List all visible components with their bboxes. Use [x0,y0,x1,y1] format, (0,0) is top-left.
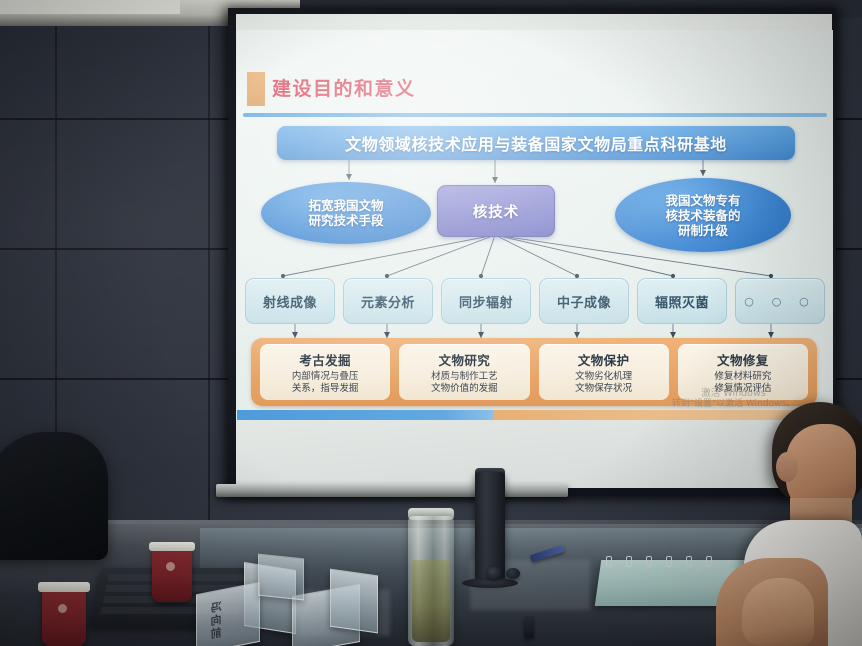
technique-box: 辐照灭菌 [637,278,727,324]
nameplate-text: 冯向前 [209,600,225,642]
technique-label: 射线成像 [263,292,317,311]
application-desc: 文物劣化机理文物保存状况 [575,371,632,394]
notebook-spiral [606,556,612,567]
technique-box: 同步辐射 [441,278,531,324]
slide-title: 建设目的和意义 [272,74,416,101]
paper-cup-lip [38,582,90,592]
application-desc: 材质与制作工艺文物价值的发掘 [431,371,498,394]
paper-cup-lip [149,542,195,551]
goal-node-right-label: 我国文物专有核技术装备的研制升级 [665,193,740,238]
title-divider-rule [243,113,827,117]
root-node-banner: 文物领域核技术应用与装备国家文物局重点科研基地 [277,126,795,160]
core-node: 核技术 [437,185,555,237]
nameplate[interactable]: 冯向前 [196,582,260,646]
root-node-label: 文物领域核技术应用与装备国家文物局重点科研基地 [345,131,727,155]
microphone-base [462,578,518,588]
eyeglasses [486,567,502,579]
goal-node-right: 我国文物专有核技术装备的研制升级 [615,178,791,252]
microphone [475,472,505,582]
technique-box: 中子成像 [539,278,629,324]
person-ear [776,452,798,482]
slide-footer-blue [237,410,495,420]
technique-box: 元素分析 [343,278,433,324]
title-accent-bar [247,72,265,106]
technique-label: 辐照灭菌 [655,292,709,311]
nameplate [330,569,378,634]
nameplate [258,554,304,601]
technique-label: 同步辐射 [459,292,513,311]
application-title: 考古发掘 [299,350,351,369]
ceiling-highlight [0,0,180,14]
goal-node-left-label: 拓宽我国文物研究技术手段 [308,198,383,228]
conference-room-photo: 建设目的和意义 文物领域核技术应用与装备国家文物局重点科研基地 [0,0,862,646]
paper-cup-logo [58,604,67,613]
technique-label: 元素分析 [361,292,415,311]
presentation-slide: 建设目的和意义 文物领域核技术应用与装备国家文物局重点科研基地 [237,30,833,420]
technique-box-ellipsis: ○ ○ ○ [735,278,825,324]
person-hand [742,578,814,646]
core-node-label: 核技术 [473,201,520,222]
tea-leaves [412,560,450,642]
paper-cup-logo [166,562,175,571]
notebook-spiral [686,556,692,567]
application-title: 文物研究 [439,350,491,369]
goal-node-left: 拓宽我国文物研究技术手段 [261,182,431,244]
notebook-spiral [666,556,672,567]
application-card: 考古发掘 内部情况与叠压关系，指导发掘 [260,344,390,400]
notebook-spiral [706,556,712,567]
application-desc: 内部情况与叠压关系，指导发掘 [292,371,359,394]
eyeglasses [506,568,520,579]
screen-roller-bar [216,484,568,497]
notebook-spiral [626,556,632,567]
paper-cup [152,546,192,602]
pen-cap [524,616,534,638]
technique-label: 中子成像 [557,292,611,311]
paper-cup [42,586,86,646]
application-card: 文物研究 材质与制作工艺文物价值的发掘 [399,344,529,400]
watermark-line1: 激活 Windows [641,388,826,399]
application-title: 文物保护 [578,350,630,369]
technique-box: 射线成像 [245,278,335,324]
office-chair [0,432,108,560]
technique-ellipsis-label: ○ ○ ○ [744,295,815,308]
technique-row: 射线成像 元素分析 同步辐射 中子成像 辐照灭菌 ○ ○ ○ [245,278,825,324]
notebook-spiral [646,556,652,567]
application-title: 文物修复 [717,350,769,369]
